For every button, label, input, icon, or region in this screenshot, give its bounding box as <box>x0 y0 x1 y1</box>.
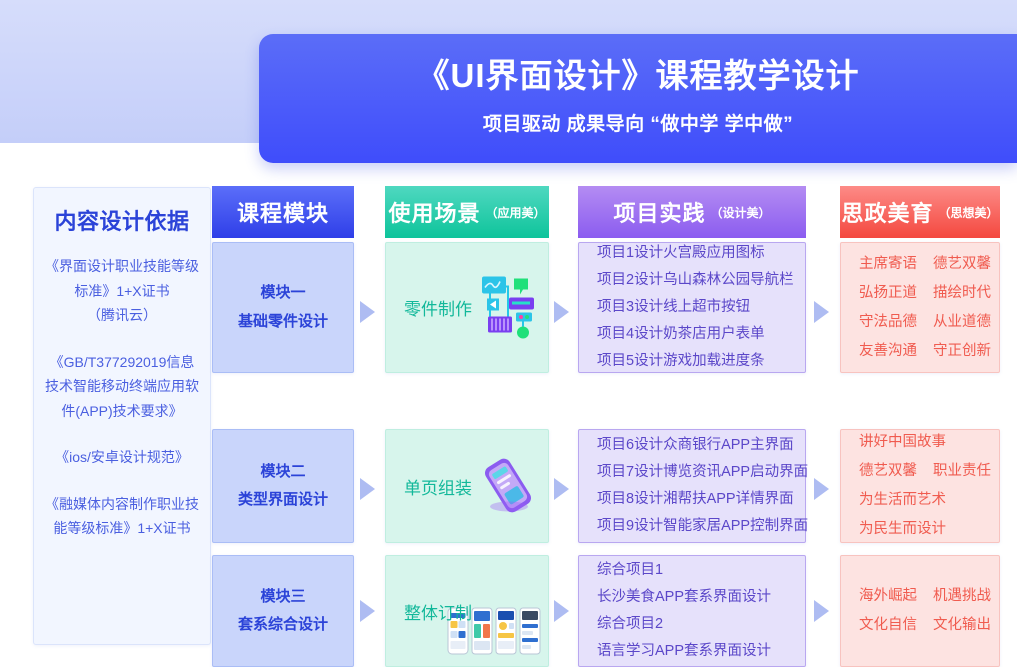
ideology-term: 从业道德 <box>933 314 991 330</box>
arrow-scene-to-project-2 <box>554 478 569 500</box>
arrow-scene-to-project-3 <box>554 600 569 622</box>
components-art-icon <box>476 272 538 343</box>
project-item: 项目4设计奶茶店用户表单 <box>597 321 805 348</box>
content-basis-header: 内容设计依据 <box>45 204 199 236</box>
ideology-row: 讲好中国故事 <box>859 428 999 457</box>
scene-card-2[interactable]: 单页组装 <box>385 429 549 543</box>
module-card-3-line1: 模块三 <box>260 583 305 612</box>
title-banner: 《UI界面设计》课程教学设计 项目驱动 成果导向 “做中学 学中做” <box>259 34 1017 163</box>
ideology-row: 海外崛起机遇挑战 <box>859 582 999 611</box>
basis-line: 《融媒体内容制作职业技 <box>45 492 199 517</box>
ideology-term: 友善沟通 <box>859 343 917 359</box>
project-card-3[interactable]: 综合项目1 长沙美食APP套系界面设计 综合项目2 语言学习APP套系界面设计 <box>578 555 806 667</box>
ideology-term: 为生活而艺术 <box>859 492 946 508</box>
page-subtitle: 项目驱动 成果导向 “做中学 学中做” <box>483 109 793 136</box>
ideology-row: 为生活而艺术 <box>859 486 999 515</box>
ideology-row: 德艺双馨职业责任 <box>859 457 999 486</box>
project-item: 综合项目2 <box>597 611 805 638</box>
module-card-1-line1: 模块一 <box>260 279 305 308</box>
basis-line: 《GB/T377292019信息 <box>45 350 199 375</box>
scene-card-3-label: 整体订制 <box>404 599 472 624</box>
arrow-module-to-scene-2 <box>360 478 375 500</box>
ideology-card-3[interactable]: 海外崛起机遇挑战 文化自信文化输出 <box>840 555 1000 667</box>
project-item: 项目1设计火宫殿应用图标 <box>597 240 805 267</box>
project-item: 项目8设计湘帮扶APP详情界面 <box>597 486 805 513</box>
ideology-term: 海外崛起 <box>859 588 917 604</box>
basis-line: 标准》1+X证书 <box>45 279 199 304</box>
project-practice-header-sub: （设计美） <box>711 204 771 221</box>
project-item: 项目5设计游戏加载进度条 <box>597 348 805 375</box>
basis-line: 能等级标准》1+X证书 <box>45 516 199 541</box>
project-practice-header-label: 项目实践 <box>613 196 705 228</box>
ideology-row: 文化自信文化输出 <box>859 611 999 640</box>
content-basis-card[interactable]: 内容设计依据 《界面设计职业技能等级 标准》1+X证书 （腾讯云） 《GB/T3… <box>33 187 211 645</box>
project-card-1[interactable]: 项目1设计火宫殿应用图标 项目2设计乌山森林公园导航栏 项目3设计线上超市按钮 … <box>578 242 806 373</box>
basis-line: 《界面设计职业技能等级 <box>45 254 199 279</box>
ideology-term: 文化输出 <box>933 617 991 633</box>
ideology-row: 主席寄语德艺双馨 <box>859 250 999 279</box>
arrow-project-to-ideology-2 <box>814 478 829 500</box>
ideology-term: 守法品德 <box>859 314 917 330</box>
module-card-2-line1: 模块二 <box>260 458 305 487</box>
ideology-term: 讲好中国故事 <box>859 434 946 450</box>
ideology-header-label: 思政美育 <box>841 196 933 228</box>
scene-card-1[interactable]: 零件制作 <box>385 242 549 373</box>
project-item: 长沙美食APP套系界面设计 <box>597 584 805 611</box>
project-card-2[interactable]: 项目6设计众商银行APP主界面 项目7设计博览资讯APP启动界面 项目8设计湘帮… <box>578 429 806 543</box>
ideology-term: 守正创新 <box>933 343 991 359</box>
module-card-2-line2: 类型界面设计 <box>238 486 328 515</box>
usage-scene-header-sub: （应用美） <box>486 204 546 221</box>
content-basis-item-2: 《GB/T377292019信息 技术智能移动终端应用软 件(APP)技术要求》 <box>45 350 199 424</box>
ideology-term: 机遇挑战 <box>933 588 991 604</box>
scene-card-3[interactable]: 整体订制 <box>385 555 549 667</box>
content-basis-item-1: 《界面设计职业技能等级 标准》1+X证书 （腾讯云） <box>45 254 199 328</box>
content-basis-item-4: 《融媒体内容制作职业技 能等级标准》1+X证书 <box>45 492 199 541</box>
ideology-term: 德艺双馨 <box>859 463 917 479</box>
arrow-project-to-ideology-3 <box>814 600 829 622</box>
module-card-1[interactable]: 模块一 基础零件设计 <box>212 242 354 373</box>
project-item: 项目3设计线上超市按钮 <box>597 294 805 321</box>
arrow-project-to-ideology-1 <box>814 301 829 323</box>
course-design-grid: 内容设计依据 《界面设计职业技能等级 标准》1+X证书 （腾讯云） 《GB/T3… <box>0 186 1017 664</box>
arrow-module-to-scene-3 <box>360 600 375 622</box>
course-modules-header-label: 课程模块 <box>237 196 329 228</box>
ideology-card-1[interactable]: 主席寄语德艺双馨 弘扬正道描绘时代 守法品德从业道德 友善沟通守正创新 <box>840 242 1000 373</box>
ideology-header-sub: （思想美） <box>939 204 999 221</box>
basis-line: （腾讯云） <box>45 303 199 328</box>
ideology-term: 德艺双馨 <box>933 256 991 272</box>
ideology-term: 为民生而设计 <box>859 521 946 537</box>
project-item: 语言学习APP套系界面设计 <box>597 638 805 665</box>
scene-card-2-label: 单页组装 <box>404 474 472 499</box>
ideology-term: 弘扬正道 <box>859 285 917 301</box>
basis-line: 技术智能移动终端应用软 <box>45 374 199 399</box>
ideology-term: 文化自信 <box>859 617 917 633</box>
project-item: 项目6设计众商银行APP主界面 <box>597 432 805 459</box>
project-item: 项目2设计乌山森林公园导航栏 <box>597 267 805 294</box>
arrow-module-to-scene-1 <box>360 301 375 323</box>
content-basis-item-3: 《ios/安卓设计规范》 <box>45 445 199 470</box>
usage-scene-header: 使用场景 （应用美） <box>385 186 549 238</box>
project-practice-header: 项目实践 （设计美） <box>578 186 806 238</box>
basis-line: 《ios/安卓设计规范》 <box>45 445 199 470</box>
module-card-1-line2: 基础零件设计 <box>238 308 328 337</box>
ideology-header: 思政美育 （思想美） <box>840 186 1000 238</box>
module-card-2[interactable]: 模块二 类型界面设计 <box>212 429 354 543</box>
usage-scene-header-label: 使用场景 <box>388 196 480 228</box>
ideology-row: 友善沟通守正创新 <box>859 337 999 366</box>
ideology-card-2[interactable]: 讲好中国故事 德艺双馨职业责任 为生活而艺术 为民生而设计 <box>840 429 1000 543</box>
basis-line: 件(APP)技术要求》 <box>45 399 199 424</box>
module-card-3[interactable]: 模块三 套系综合设计 <box>212 555 354 667</box>
module-card-3-line2: 套系综合设计 <box>238 611 328 640</box>
scene-card-1-label: 零件制作 <box>404 295 472 320</box>
project-item: 项目9设计智能家居APP控制界面 <box>597 513 805 540</box>
ideology-term: 职业责任 <box>933 463 991 479</box>
ideology-term: 描绘时代 <box>933 285 991 301</box>
project-item: 综合项目1 <box>597 557 805 584</box>
ideology-row: 守法品德从业道德 <box>859 308 999 337</box>
course-modules-header: 课程模块 <box>212 186 354 238</box>
ideology-term: 主席寄语 <box>859 256 917 272</box>
ideology-row: 为民生而设计 <box>859 515 999 544</box>
arrow-scene-to-project-1 <box>554 301 569 323</box>
page-title: 《UI界面设计》课程教学设计 <box>417 57 860 95</box>
phone-art-icon <box>476 458 540 519</box>
project-item: 项目7设计博览资讯APP启动界面 <box>597 459 805 486</box>
ideology-row: 弘扬正道描绘时代 <box>859 279 999 308</box>
